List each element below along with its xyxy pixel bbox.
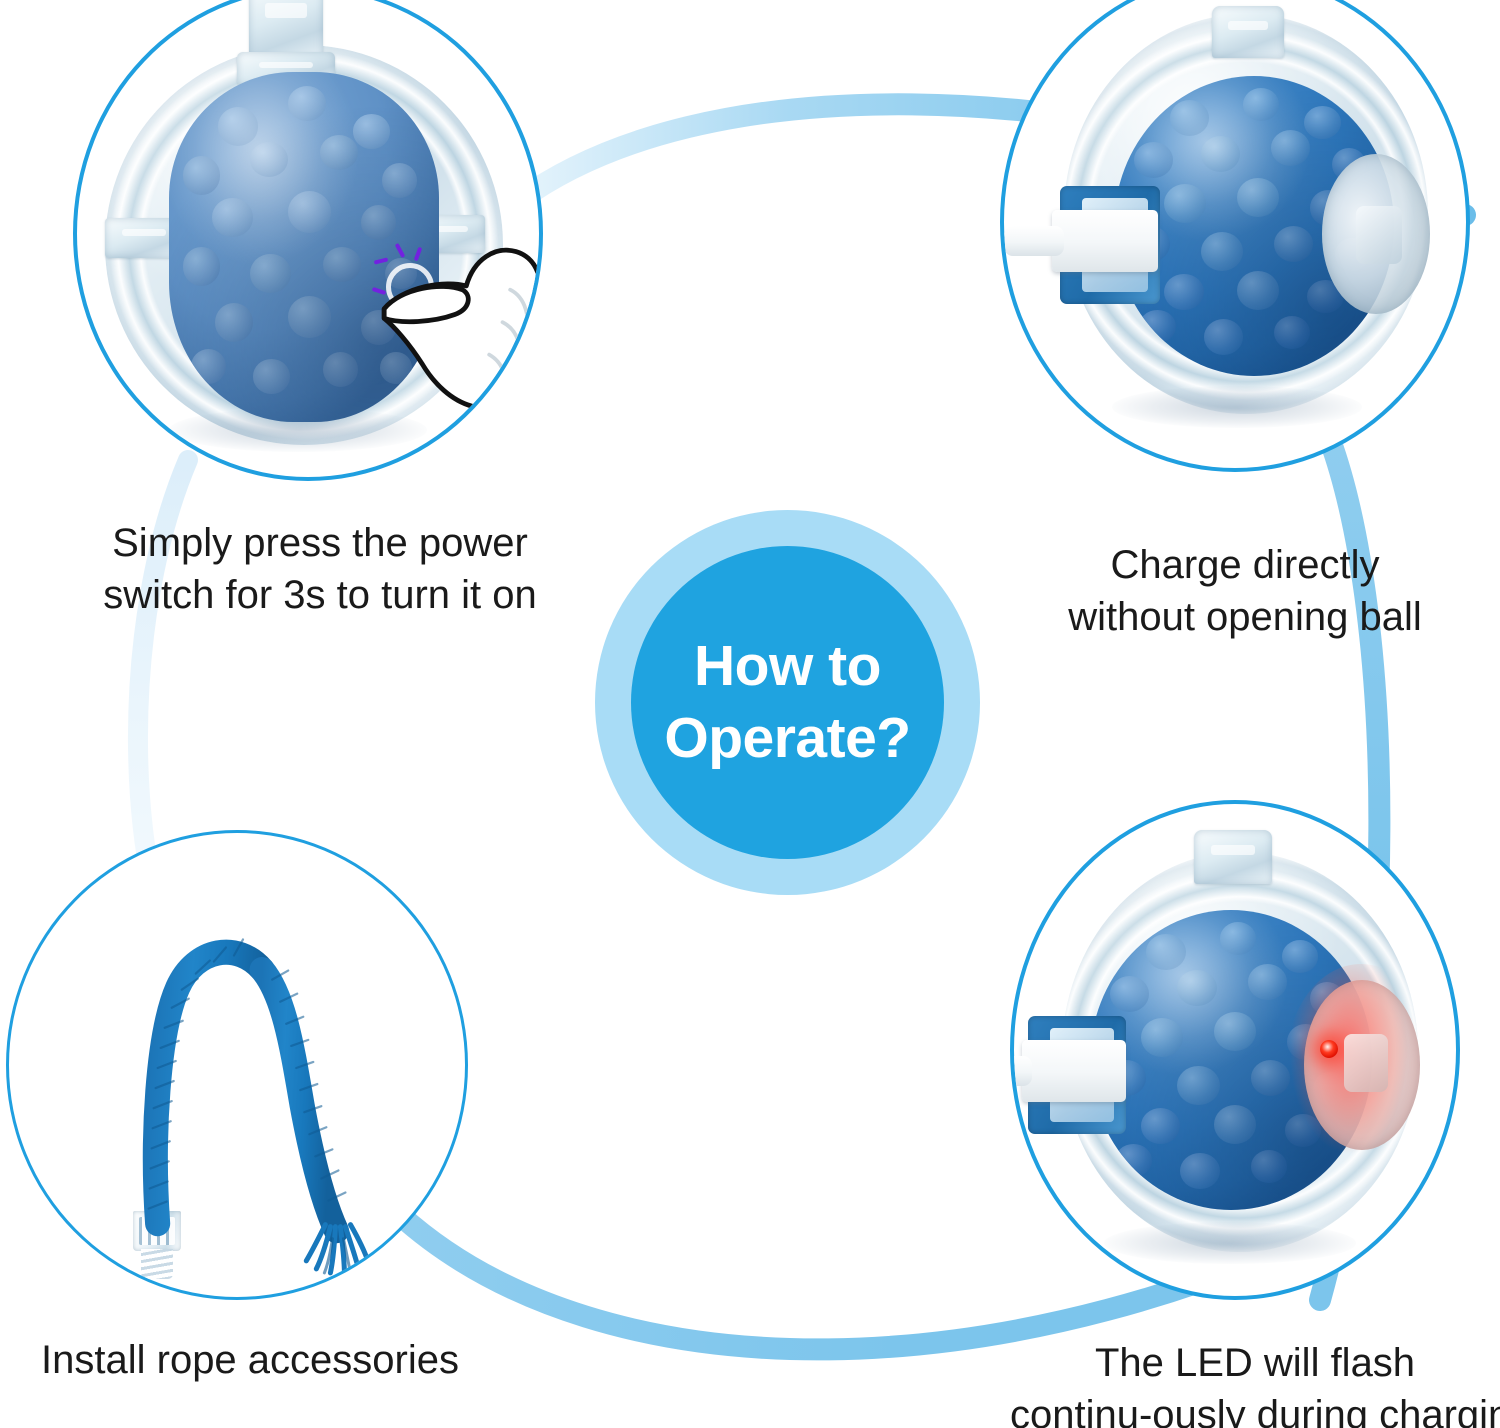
panel-circle-outline (1000, 0, 1470, 472)
ground-shadow (1104, 1222, 1356, 1264)
center-hub: How to Operate? (595, 510, 980, 895)
panel-charge-directly[interactable] (1000, 0, 1470, 472)
panel-circle-outline (73, 0, 543, 481)
hub-title-line-1: How to (694, 631, 881, 703)
hub-inner-circle: How to Operate? (631, 546, 944, 859)
caption-line: without opening ball (1020, 592, 1470, 644)
ground-shadow (1112, 386, 1362, 428)
caption-led-flash: The LED will flash continu-ously during … (1010, 1338, 1500, 1428)
housing-top-cap (1212, 6, 1284, 58)
panel-install-rope[interactable] (6, 830, 468, 1300)
usb-cable (1004, 226, 1064, 256)
hub-title-line-2: Operate? (664, 703, 910, 775)
panel-circle-outline (6, 830, 468, 1300)
caption-install-rope: Install rope accessories (0, 1335, 500, 1387)
usb-plug[interactable] (1022, 1040, 1126, 1102)
caption-power-switch: Simply press the power switch for 3s to … (40, 518, 600, 621)
panel-led-flash[interactable] (1010, 800, 1460, 1300)
caption-line: Charge directly (1020, 540, 1470, 592)
caption-line: Install rope accessories (0, 1335, 500, 1387)
panel-circle-outline (1010, 800, 1460, 1300)
caption-line: continu-ously during charging (1010, 1390, 1500, 1428)
usb-cable (1010, 1056, 1032, 1086)
usb-plug[interactable] (1052, 210, 1158, 272)
panel-power-switch[interactable] (73, 0, 543, 481)
caption-charge-directly: Charge directly without opening ball (1020, 540, 1470, 643)
braided-rope (9, 833, 468, 1300)
caption-line: The LED will flash (1010, 1338, 1500, 1390)
electronics-core-icon (1344, 1034, 1388, 1092)
caption-line: Simply press the power (40, 518, 600, 570)
caption-line: switch for 3s to turn it on (40, 570, 600, 622)
infographic-canvas: How to Operate? Simply press the power s… (0, 0, 1500, 1428)
pointing-hand-icon (367, 230, 543, 422)
housing-top-cap (1194, 830, 1272, 884)
electronics-core-icon (1356, 206, 1402, 264)
led-indicator-light (1320, 1040, 1338, 1058)
